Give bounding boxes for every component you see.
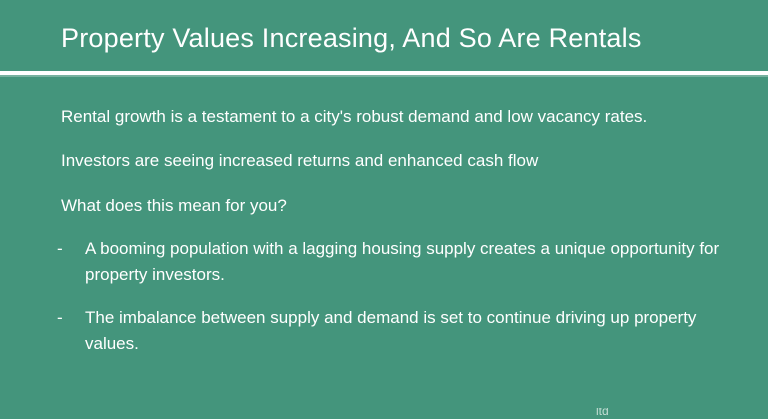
bullet-marker-icon: - (57, 236, 83, 262)
footer-clipped-area: ltd (0, 408, 768, 419)
page-title: Property Values Increasing, And So Are R… (61, 21, 642, 55)
bullet-item-label: The imbalance between supply and demand … (85, 305, 737, 357)
body-paragraph-3: What does this mean for you? (61, 194, 287, 218)
bullet-list-item: - A booming population with a lagging ho… (57, 236, 737, 288)
slide-title-band: Property Values Increasing, And So Are R… (0, 0, 768, 71)
presentation-slide: Property Values Increasing, And So Are R… (0, 0, 768, 419)
bullet-item-label: A booming population with a lagging hous… (85, 236, 737, 288)
footer-text: ltd (596, 408, 609, 418)
body-paragraph-2: Investors are seeing increased returns a… (61, 149, 538, 173)
bullet-marker-icon: - (57, 305, 83, 331)
body-paragraph-1: Rental growth is a testament to a city's… (61, 105, 647, 129)
bullet-list-item: - The imbalance between supply and deman… (57, 305, 737, 357)
slide-body: Rental growth is a testament to a city's… (0, 77, 768, 419)
